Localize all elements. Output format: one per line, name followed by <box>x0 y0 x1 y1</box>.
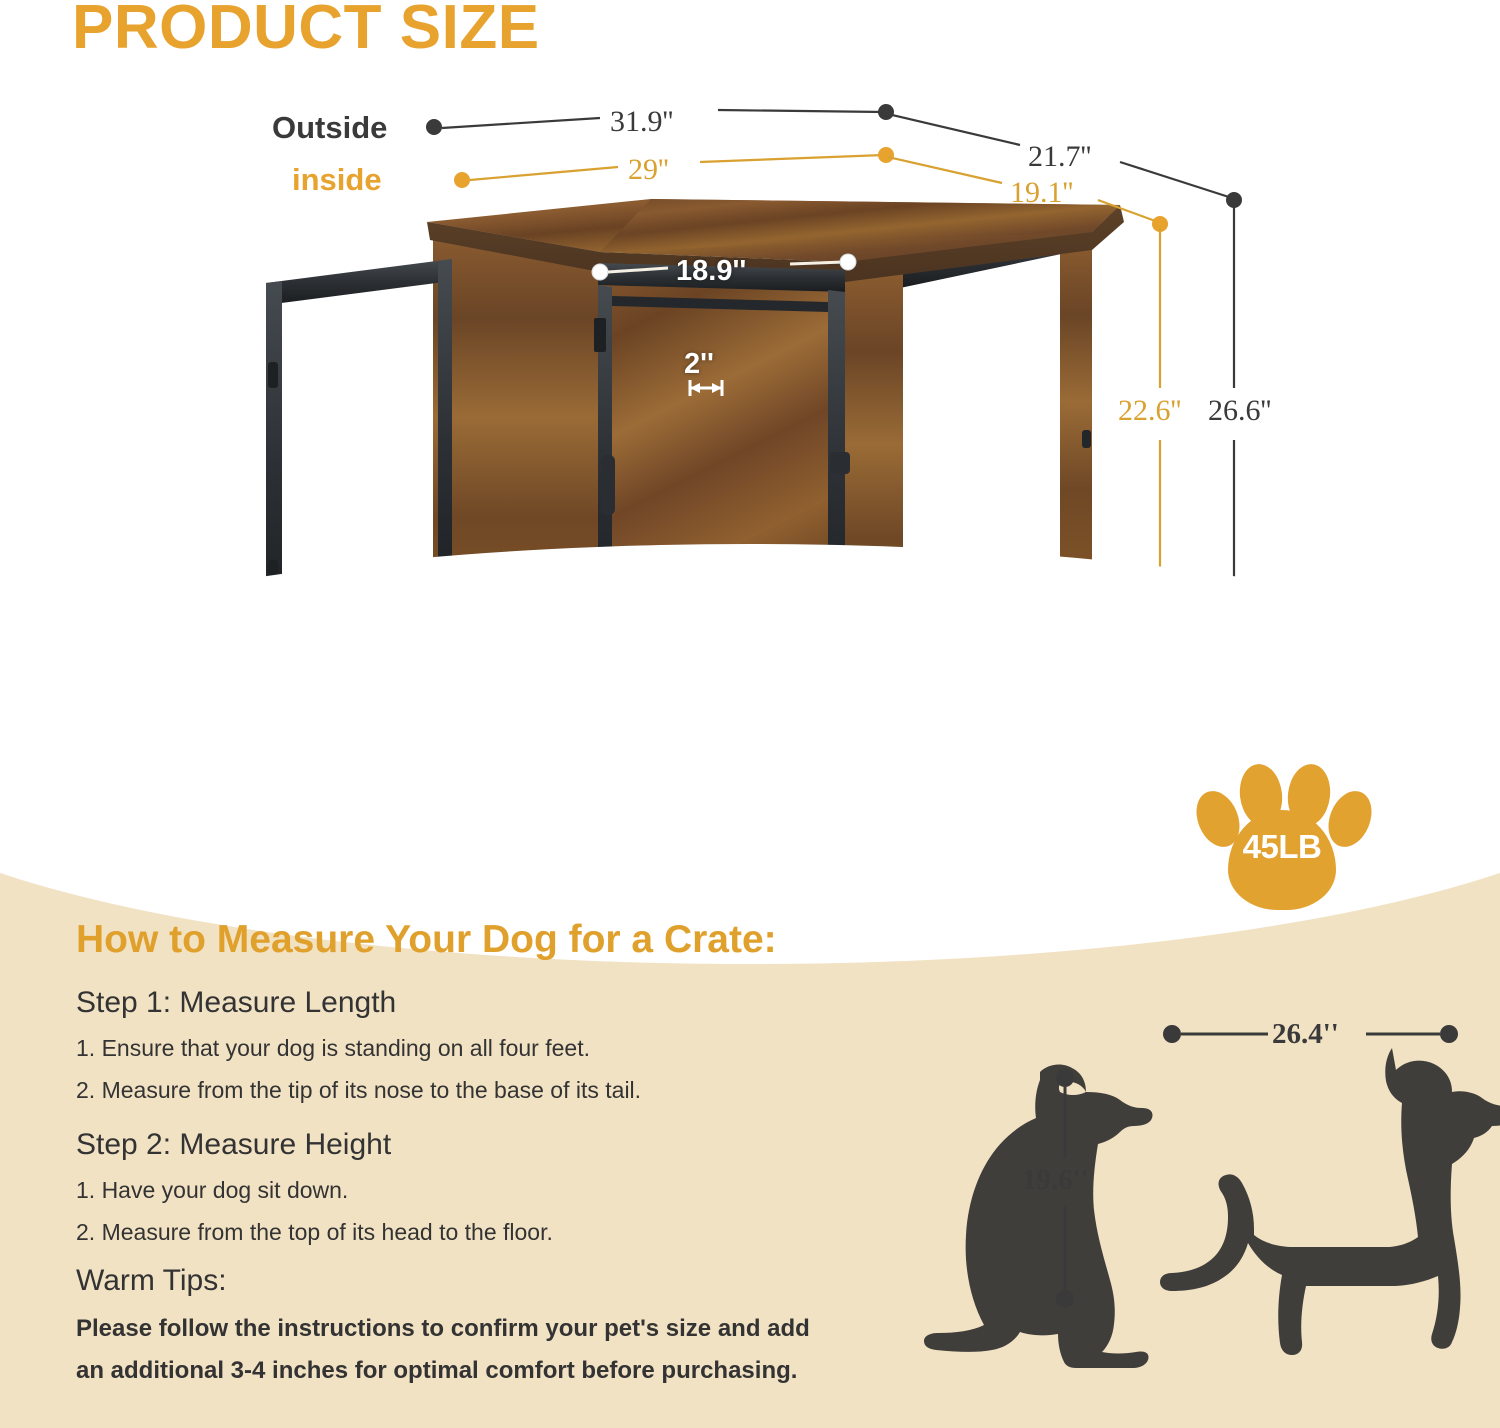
warm-tips-line-2: an additional 3-4 inches for optimal com… <box>76 1357 797 1385</box>
dim-bar-spacing: 2'' <box>684 348 714 381</box>
dim-inside-depth: 19.1'' <box>1010 176 1073 210</box>
dim-inside-height: 22.6'' <box>1118 394 1181 428</box>
warm-tips-heading: Warm Tips: <box>76 1264 227 1298</box>
infographic-root: PRODUCT SIZE <box>0 0 1500 1428</box>
dim-dot <box>1152 216 1168 232</box>
dim-outside-depth: 21.7'' <box>1028 140 1091 174</box>
dim-dot <box>454 172 470 188</box>
paw-print-icon: 45LB <box>1188 762 1374 912</box>
weight-capacity-label: 45LB <box>1228 828 1336 866</box>
door-handle <box>601 455 615 515</box>
dim-outside-width: 31.9'' <box>610 105 673 139</box>
step2-heading: Step 2: Measure Height <box>76 1128 391 1162</box>
page-title: PRODUCT SIZE <box>72 0 540 63</box>
howto-title: How to Measure Your Dog for a Crate: <box>76 918 777 962</box>
warm-tips-line-1: Please follow the instructions to confir… <box>76 1315 810 1343</box>
dog-height-label: 19.6'' <box>1022 1164 1089 1197</box>
dim-door-width: 18.9'' <box>676 255 746 288</box>
step1-heading: Step 1: Measure Length <box>76 986 396 1020</box>
step1-line-2: 2. Measure from the tip of its nose to t… <box>76 1077 641 1104</box>
dog-length-label: 26.4'' <box>1272 1018 1339 1051</box>
dim-dot <box>878 147 894 163</box>
step2-line-2: 2. Measure from the top of its head to t… <box>76 1219 553 1246</box>
step1-line-1: 1. Ensure that your dog is standing on a… <box>76 1035 590 1062</box>
dim-dot <box>1226 192 1242 208</box>
dim-dot <box>878 104 894 120</box>
dim-inside-width: 29'' <box>628 153 669 187</box>
step2-line-1: 1. Have your dog sit down. <box>76 1177 348 1204</box>
legend-outside-label: Outside <box>272 110 387 146</box>
door-latch <box>830 452 850 474</box>
dim-dot <box>426 119 442 135</box>
dim-outside-height: 26.6'' <box>1208 394 1271 428</box>
legend-inside-label: inside <box>292 162 382 198</box>
